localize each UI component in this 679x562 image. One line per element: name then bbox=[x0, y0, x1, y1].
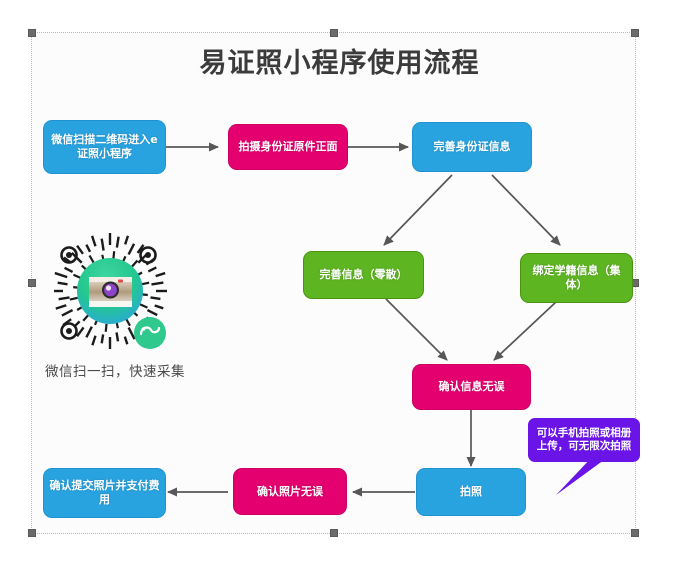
node-confirm-photo[interactable]: 确认照片无误 bbox=[233, 468, 347, 515]
node-complete-info[interactable]: 完善信息（零散） bbox=[303, 251, 424, 299]
resize-handle-top-left[interactable] bbox=[28, 29, 36, 37]
callout-label: 可以手机拍照或相册上传，可无限次拍照 bbox=[532, 427, 636, 453]
node-take-photo[interactable]: 拍照 bbox=[416, 468, 526, 516]
resize-handle-top-center[interactable] bbox=[330, 29, 338, 37]
node-scan-enter[interactable]: 微信扫描二维码进入e证照小程序 bbox=[43, 120, 166, 174]
resize-handle-top-right[interactable] bbox=[631, 29, 639, 37]
node-complete-id[interactable]: 完善身份证信息 bbox=[412, 122, 532, 172]
node-confirm-info[interactable]: 确认信息无误 bbox=[412, 364, 531, 410]
node-label: 确认提交照片并支付费用 bbox=[49, 479, 160, 507]
node-label: 拍照 bbox=[460, 485, 482, 499]
node-label: 微信扫描二维码进入e证照小程序 bbox=[49, 133, 160, 161]
node-label: 拍摄身份证原件正面 bbox=[239, 140, 338, 154]
node-bind-roll[interactable]: 绑定学籍信息（集体） bbox=[520, 253, 633, 303]
qr-caption: 微信扫一扫，快速采集 bbox=[20, 360, 210, 380]
node-label: 完善信息（零散） bbox=[320, 268, 408, 282]
node-label: 确认照片无误 bbox=[257, 485, 323, 499]
callout-photo-tip[interactable]: 可以手机拍照或相册上传，可无限次拍照 bbox=[528, 418, 640, 462]
node-shoot-id-front[interactable]: 拍摄身份证原件正面 bbox=[228, 124, 348, 170]
resize-handle-middle-left[interactable] bbox=[28, 279, 36, 287]
wechat-miniprogram-qr-code-icon[interactable] bbox=[42, 228, 178, 360]
resize-handle-bottom-right[interactable] bbox=[631, 529, 639, 537]
diagram-title: 易证照小程序使用流程 bbox=[0, 48, 679, 80]
resize-handle-bottom-center[interactable] bbox=[330, 529, 338, 537]
node-label: 完善身份证信息 bbox=[434, 140, 511, 154]
node-submit-pay[interactable]: 确认提交照片并支付费用 bbox=[43, 468, 166, 518]
flowchart-canvas: 易证照小程序使用流程 微信扫描二维码进入e证照小程序 拍摄身 bbox=[0, 0, 679, 562]
node-label: 绑定学籍信息（集体） bbox=[526, 264, 627, 292]
node-label: 确认信息无误 bbox=[439, 380, 505, 394]
resize-handle-bottom-left[interactable] bbox=[28, 529, 36, 537]
